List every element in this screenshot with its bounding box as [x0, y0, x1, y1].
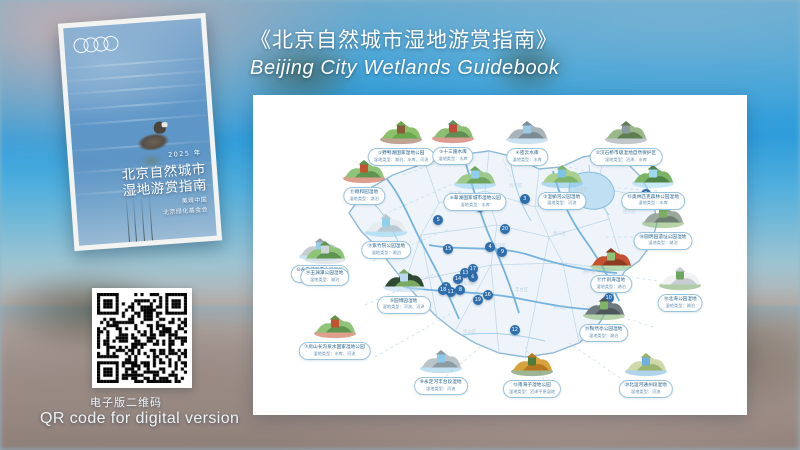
map-pin-4[interactable]: 4 — [485, 242, 495, 252]
map-label-name: ⑦房山长沟泉水国家湿地公园 — [304, 345, 365, 351]
map-pin-14[interactable]: 14 — [453, 274, 463, 284]
qr-code-image[interactable] — [92, 288, 192, 388]
map-label-7[interactable]: ⑦房山长沟泉水国家湿地公园湿地类型：水库、河流 — [298, 342, 371, 360]
map-label-9[interactable]: ⑨园博园湿地湿地类型：河流、沼泽 — [377, 296, 431, 314]
svg-text:顺义区: 顺义区 — [553, 231, 567, 237]
map-label-16[interactable]: ⑯圆明园遗址公园湿地湿地类型：湖泊 — [634, 232, 693, 250]
qr-caption-chinese: 电子版二维码 — [90, 394, 239, 410]
map-label-type: 湿地类型：湖泊 — [306, 277, 344, 282]
ming-tombs-tower-illustration — [430, 115, 476, 148]
map-label-name: ⑱北海公园湿地 — [664, 297, 697, 303]
qr-caption-english: QR code for digital version — [40, 410, 239, 428]
qr-code-canvas — [97, 293, 187, 383]
map-label-type: 湿地类型：水库 — [450, 202, 501, 207]
red-pavilion-illustration — [588, 243, 634, 276]
map-pin-20[interactable]: 20 — [500, 224, 510, 234]
pagoda-lake-illustration — [312, 311, 358, 344]
map-label-11[interactable]: ⑪颐和园湿地湿地类型：湖泊 — [343, 187, 384, 205]
page-title-chinese: 《北京自然城市湿地游赏指南》 — [250, 26, 560, 54]
book-cover: 2025 年 北京自然城市 湿地游赏指南 美境中国 北京绿化基金会 — [58, 13, 222, 251]
map-label-8[interactable]: ⑧永定河丰台段湿地湿地类型：河流 — [414, 377, 468, 395]
map-pin-16[interactable]: 16 — [483, 290, 493, 300]
map-label-type: 湿地类型：河流 — [543, 200, 580, 205]
lake-pavilion-illustration — [452, 162, 498, 195]
map-label-type: 湿地类型：湖泊 — [349, 196, 378, 201]
map-pin-12[interactable]: 12 — [510, 325, 520, 335]
map-label-name: ⑧永定河丰台段湿地 — [420, 380, 462, 386]
map-label-3[interactable]: ③温榆河公园湿地湿地类型：河流 — [537, 192, 586, 210]
map-label-5[interactable]: ⑤十三陵水库湿地类型：水库 — [432, 147, 473, 165]
map-label-type: 湿地类型：湖泊 — [596, 284, 625, 289]
map-label-19[interactable]: ⑲陶然亭公园湿地湿地类型：湖泊 — [579, 324, 629, 342]
map-label-15[interactable]: ⑮奥林匹克森林公园湿地湿地类型：水库 — [621, 192, 685, 210]
map-label-name: ⑪颐和园湿地 — [349, 190, 378, 196]
arch-bridge-green-illustration — [381, 264, 427, 297]
qr-code-block: 电子版二维码 QR code for digital version — [92, 288, 239, 428]
map-label-type: 湿地类型：湖泊、水库、河流 — [374, 157, 429, 162]
white-dagoba-illustration — [657, 263, 703, 296]
map-label-name: ①野鸭湖国家湿地公园 — [374, 151, 429, 157]
map-label-name: ⑳北运河通州段湿地 — [625, 383, 667, 389]
map-label-17[interactable]: ⑰什刹海湿地湿地类型：湖泊 — [590, 275, 631, 293]
map-label-2[interactable]: ②汉石桥市级湿地自然保护区湿地类型：沼泽、水库 — [590, 148, 663, 166]
map-label-20[interactable]: ⑳北运河通州段湿地湿地类型：河流 — [619, 380, 673, 398]
map-label-13[interactable]: ⑬紫竹院公园湿地湿地类型：湖泊 — [362, 241, 412, 259]
great-wall-gate-illustration — [603, 117, 649, 150]
map-label-type: 湿地类型：湖泊 — [585, 333, 623, 338]
map-label-1[interactable]: ①野鸭湖国家湿地公园湿地类型：湖泊、水库、河流 — [368, 148, 435, 166]
map-label-type: 湿地类型：河流 — [420, 386, 462, 391]
map-label-type: 湿地类型：湖泊 — [640, 240, 687, 245]
map-pin-15[interactable]: 15 — [443, 244, 453, 254]
map-label-name: ⑮奥林匹克森林公园湿地 — [627, 195, 679, 201]
map-label-name: ⑯圆明园遗址公园湿地 — [640, 235, 687, 241]
map-label-14[interactable]: ⑭玉渊潭公园湿地湿地类型：湖泊 — [300, 268, 350, 286]
map-label-name: ⑭玉渊潭公园湿地 — [306, 271, 344, 277]
map-pin-18[interactable]: 18 — [438, 285, 448, 295]
map-label-name: ③温榆河公园湿地 — [543, 195, 580, 201]
reservoir-dam-illustration — [504, 117, 550, 150]
map-pin-17[interactable]: 17 — [468, 264, 478, 274]
white-bridge-illustration — [363, 210, 409, 243]
svg-text:大兴区: 大兴区 — [553, 304, 567, 311]
river-bridge-city-illustration — [418, 346, 464, 379]
page-title-english: Beijing City Wetlands Guidebook — [250, 54, 560, 82]
svg-text:丰台区: 丰台区 — [515, 286, 529, 293]
map-label-name: ②汉石桥市级湿地自然保护区 — [596, 151, 657, 157]
map-pin-19[interactable]: 19 — [473, 295, 483, 305]
map-label-18[interactable]: ⑱北海公园湿地湿地类型：湖泊 — [658, 294, 703, 312]
map-label-12[interactable]: ⑫南海子湿地公园湿地类型：沼泽平原湿地 — [503, 380, 561, 398]
map-label-name: ⑥翠湖国家城市湿地公园 — [450, 196, 501, 202]
temple-roof-illustration — [509, 349, 555, 382]
map-label-type: 湿地类型：湖泊 — [664, 303, 697, 308]
map-pin-9[interactable]: 9 — [497, 247, 507, 257]
wetland-boardwalk-illustration — [378, 117, 424, 150]
map-label-name: ⑫南海子湿地公园 — [509, 383, 555, 389]
map-label-type: 湿地类型：水库、河流 — [304, 351, 365, 356]
map-label-type: 湿地类型：沼泽平原湿地 — [509, 389, 555, 394]
map-label-type: 湿地类型：河流 — [625, 389, 667, 394]
book-cover-photo: 2025 年 北京自然城市 湿地游赏指南 美境中国 北京绿化基金会 — [63, 18, 217, 246]
grey-pavilion-illustration — [581, 293, 627, 326]
map-label-type: 湿地类型：水库 — [438, 156, 467, 161]
map-label-6[interactable]: ⑥翠湖国家城市湿地公园湿地类型：水库 — [444, 193, 507, 211]
map-label-name: ⑬紫竹院公园湿地 — [368, 244, 406, 250]
four-rings-logo-icon — [73, 36, 114, 54]
svg-text:昌平区: 昌平区 — [509, 183, 523, 189]
river-park-illustration — [539, 160, 585, 193]
book-cover-publisher-line2: 北京绿化基金会 — [163, 204, 208, 216]
canal-bridge-illustration — [623, 349, 669, 382]
duck-bill — [161, 122, 167, 127]
map-label-type: 湿地类型：湖泊 — [368, 250, 406, 255]
map-pin-5[interactable]: 5 — [433, 215, 443, 225]
map-label-type: 湿地类型：沼泽、水库 — [596, 157, 657, 162]
map-label-name: ⑲陶然亭公园湿地 — [585, 327, 623, 333]
wetlands-map-panel[interactable]: 延庆区 昌平区 怀柔区 密云区 顺义区 海淀区 通州区 门头沟区 丰台区 大兴区… — [253, 95, 747, 415]
map-pin-3[interactable]: 3 — [520, 194, 530, 204]
map-label-name: ⑤十三陵水库 — [438, 150, 467, 156]
map-label-name: ⑰什刹海湿地 — [596, 278, 625, 284]
map-label-type: 湿地类型：水库 — [512, 157, 541, 162]
svg-text:房山区: 房山区 — [463, 328, 477, 335]
map-label-type: 湿地类型：河流、沼泽 — [383, 304, 425, 309]
map-label-4[interactable]: ④密云水库湿地类型：水库 — [506, 148, 547, 166]
map-label-name: ④密云水库 — [512, 151, 541, 157]
map-label-type: 湿地类型：水库 — [627, 200, 679, 205]
map-pin-8[interactable]: 8 — [455, 285, 465, 295]
page-title: 《北京自然城市湿地游赏指南》 Beijing City Wetlands Gui… — [250, 26, 560, 82]
